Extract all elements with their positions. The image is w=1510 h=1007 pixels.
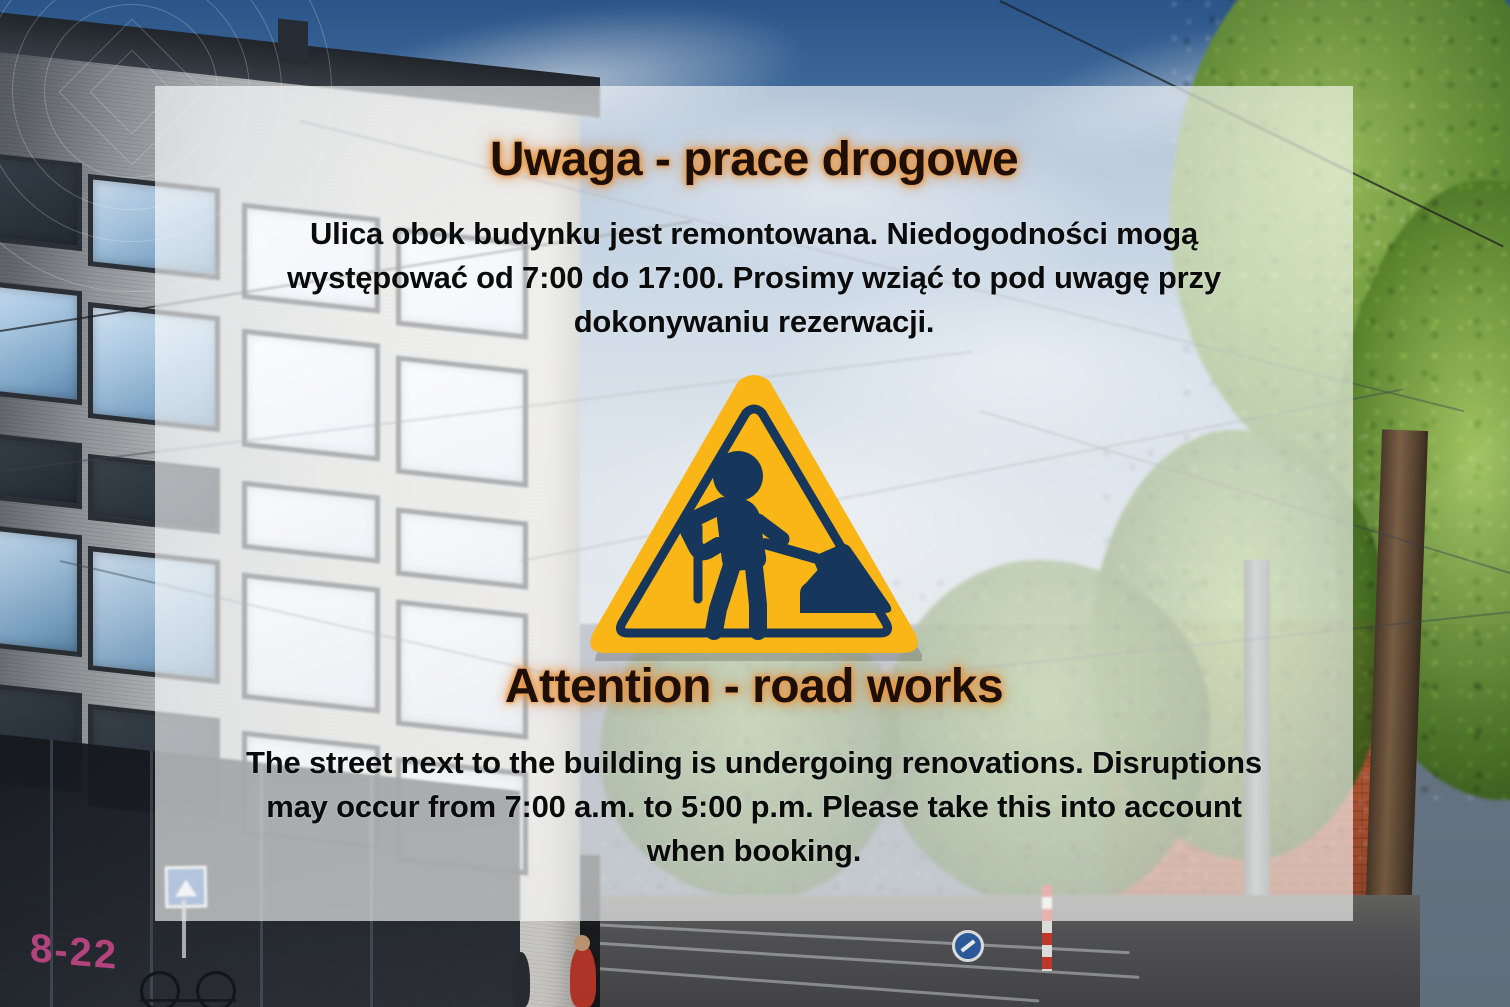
road-works-sign [586,361,922,661]
notice-screenshot: 8-22 Uwaga [0,0,1510,1007]
polish-body-text: Ulica obok budynku jest remontowana. Nie… [234,212,1274,345]
road-works-warning-sign-icon [586,361,922,661]
english-heading: Attention - road works [505,661,1003,713]
english-body-text: The street next to the building is under… [234,741,1274,874]
polish-heading: Uwaga - prace drogowe [490,134,1018,186]
notice-content: Uwaga - prace drogowe Ulica obok budynku… [155,86,1353,921]
